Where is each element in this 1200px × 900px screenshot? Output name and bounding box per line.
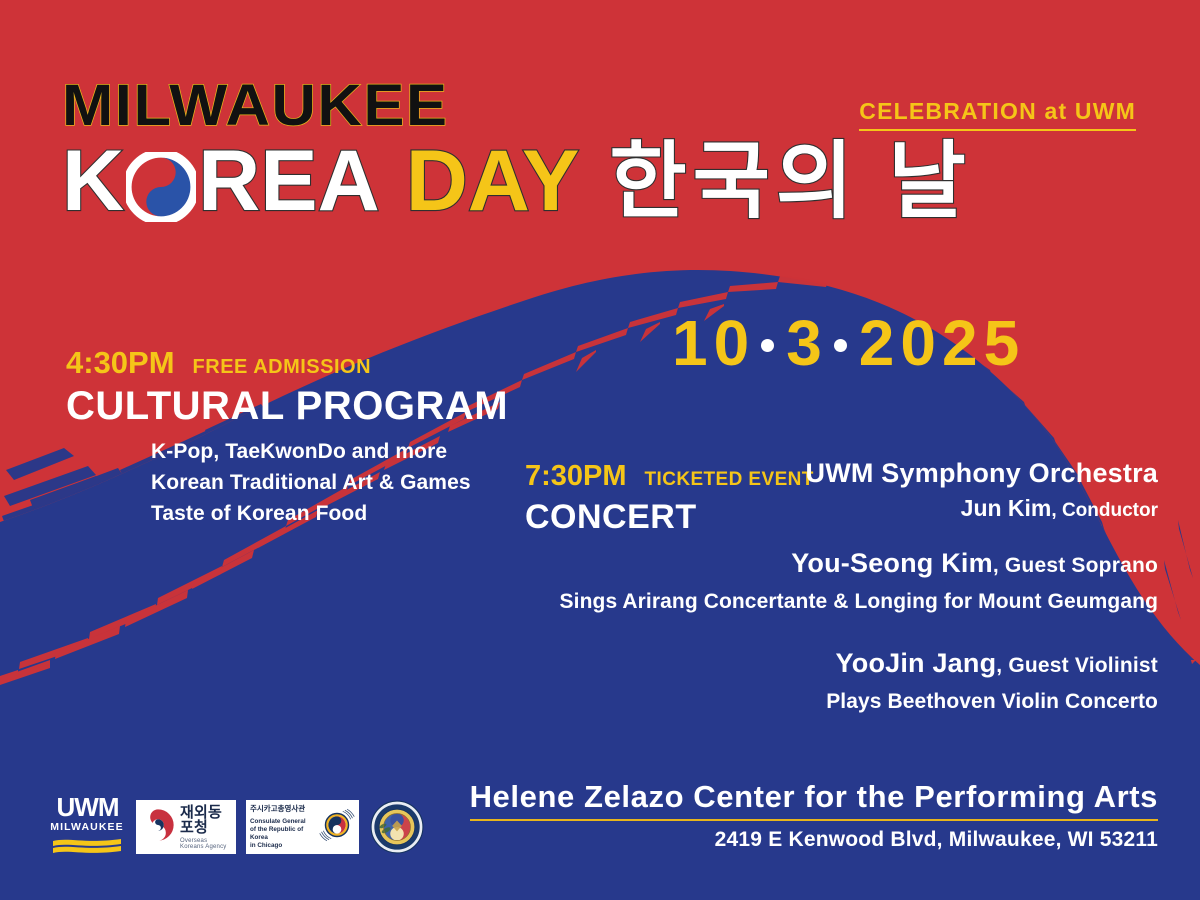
cultural-program-time-row: 4:30PM FREE ADMISSION xyxy=(66,345,508,381)
concert-ticket-badge: TICKETED EVENT xyxy=(645,469,814,491)
venue-name-wrap: Helene Zelazo Center for the Performing … xyxy=(470,779,1158,821)
venue-block: Helene Zelazo Center for the Performing … xyxy=(470,779,1158,852)
date-month: 10 xyxy=(672,306,755,380)
list-item: Korean Traditional Art & Games xyxy=(151,467,508,498)
conductor-role: , Conductor xyxy=(1051,500,1158,521)
korean-consulate-logo: 주시카고총영사관 Consulate General of the Republ… xyxy=(246,800,359,854)
list-item: K-Pop, TaeKwonDo and more xyxy=(151,436,508,467)
title-korea-k: K xyxy=(62,138,124,224)
concert-title: CONCERT xyxy=(525,498,814,537)
cultural-program-admission-badge: FREE ADMISSION xyxy=(193,356,372,379)
venue-address: 2419 E Kenwood Blvd, Milwaukee, WI 53211 xyxy=(470,828,1158,852)
date-day: 3 xyxy=(786,306,828,380)
concert-time: 7:30PM xyxy=(525,460,627,493)
guest-name-line: YooJin Jang, Guest Violinist xyxy=(826,648,1158,679)
guest-name: You-Seong Kim xyxy=(791,548,993,578)
date-separator-dot xyxy=(761,339,774,352)
concert-block: 7:30PM TICKETED EVENT CONCERT xyxy=(525,460,814,537)
cultural-program-block: 4:30PM FREE ADMISSION CULTURAL PROGRAM K… xyxy=(66,345,508,529)
conductor-name: Jun Kim xyxy=(961,495,1052,521)
title-korea: K REA xyxy=(62,138,380,224)
consulate-emblem-icon xyxy=(319,807,355,848)
taegeuk-icon xyxy=(126,150,196,220)
cultural-program-time: 4:30PM xyxy=(66,345,175,381)
consulate-english-line-1: Consulate General xyxy=(250,818,315,826)
uwm-wordmark-m: M xyxy=(98,792,118,822)
title-row-secondary: K REA DAY 한국의 날 xyxy=(62,138,972,224)
sponsor-logo-strip: UWM MILWAUKEE 재외동포청 Overs xyxy=(48,798,425,856)
oka-text: 재외동포청 Overseas Koreans Agency xyxy=(180,805,231,850)
title-korea-rest: REA xyxy=(198,138,380,224)
guest-artist-violinist: YooJin Jang, Guest Violinist Plays Beeth… xyxy=(826,648,1158,714)
consulate-english-line-3: in Chicago xyxy=(250,842,315,850)
guest-name: YooJin Jang xyxy=(836,648,997,678)
event-date: 10 3 2025 xyxy=(672,306,1025,380)
consulate-text: 주시카고총영사관 Consulate General of the Republ… xyxy=(250,804,315,850)
oka-korean-name: 재외동포청 xyxy=(180,805,231,835)
guest-program: Plays Beethoven Violin Concerto xyxy=(826,690,1158,714)
korea-day-poster: MILWAUKEE K REA DAY 한국의 날 CELE xyxy=(0,0,1200,900)
oka-taegeuk-icon xyxy=(141,808,175,847)
list-item: Taste of Korean Food xyxy=(151,498,508,529)
overseas-koreans-agency-logo: 재외동포청 Overseas Koreans Agency xyxy=(136,800,236,854)
consulate-english-line-2: of the Republic of Korea xyxy=(250,826,315,842)
uwm-wave-icon xyxy=(51,837,123,860)
guest-role: , Guest Soprano xyxy=(993,554,1158,577)
conductor-line: Jun Kim, Conductor xyxy=(806,495,1158,522)
state-department-seal-icon xyxy=(369,799,425,855)
poster-headline: MILWAUKEE K REA DAY 한국의 날 xyxy=(62,78,972,224)
title-hangul: 한국의 날 xyxy=(609,139,971,223)
orchestra-block: UWM Symphony Orchestra Jun Kim, Conducto… xyxy=(806,458,1158,522)
uwm-wordmark-uw: UW xyxy=(57,792,98,822)
guest-name-line: You-Seong Kim, Guest Soprano xyxy=(560,548,1158,579)
consulate-korean-name: 주시카고총영사관 xyxy=(250,804,315,814)
uwm-wordmark: UWM xyxy=(57,794,118,820)
celebration-tag: CELEBRATION at UWM xyxy=(859,98,1136,131)
orchestra-name: UWM Symphony Orchestra xyxy=(806,458,1158,489)
uwm-subtitle: MILWAUKEE xyxy=(50,822,124,833)
oka-english-name: Overseas Koreans Agency xyxy=(180,838,231,850)
guest-role: , Guest Violinist xyxy=(996,654,1158,677)
guest-artist-soprano: You-Seong Kim, Guest Soprano Sings Arira… xyxy=(560,548,1158,614)
date-year: 2025 xyxy=(859,306,1025,380)
cultural-program-activity-list: K-Pop, TaeKwonDo and more Korean Traditi… xyxy=(66,436,508,529)
concert-time-row: 7:30PM TICKETED EVENT xyxy=(525,460,814,493)
uwm-logo: UWM MILWAUKEE xyxy=(48,798,126,856)
venue-name: Helene Zelazo Center for the Performing … xyxy=(470,779,1158,821)
title-day: DAY xyxy=(406,138,580,224)
guest-program: Sings Arirang Concertante & Longing for … xyxy=(560,590,1158,614)
date-separator-dot xyxy=(834,339,847,352)
cultural-program-title: CULTURAL PROGRAM xyxy=(66,385,508,427)
